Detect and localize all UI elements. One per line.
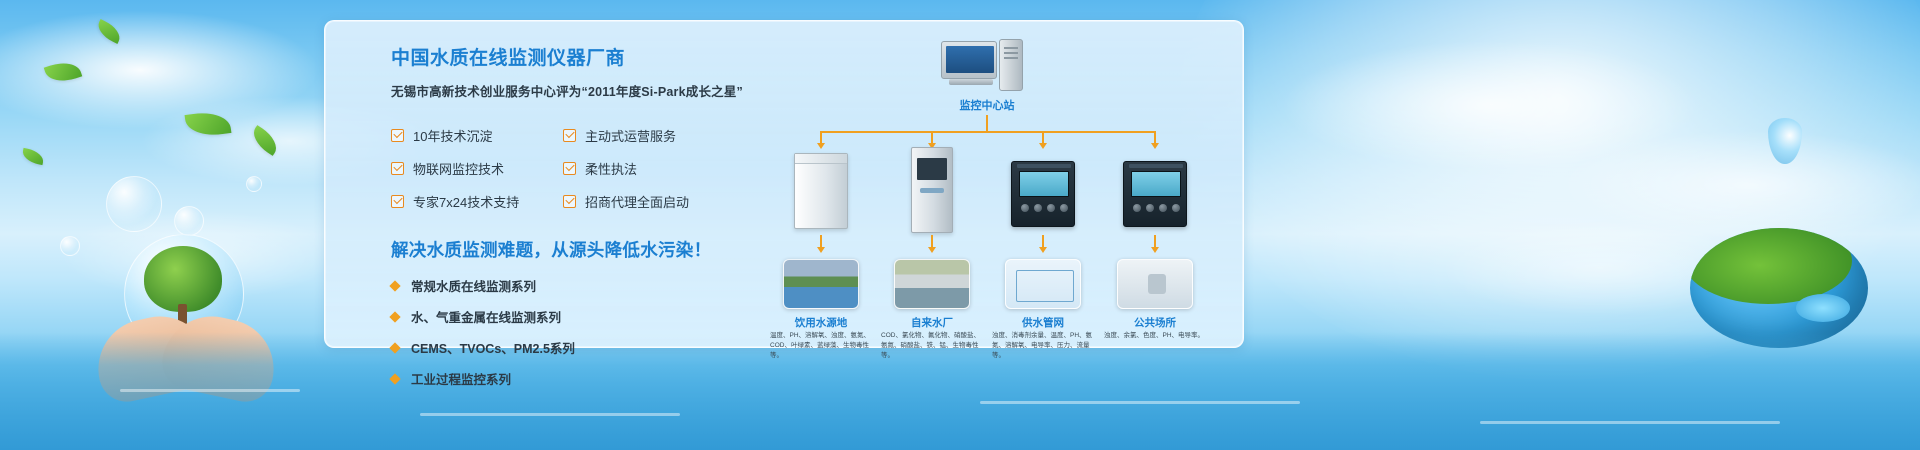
device-body [911,147,953,233]
device-controller-2 [1123,161,1187,227]
page-subtitle: 无锡市高新技术创业服务中心评为“2011年度Si-Park成长之星” [391,81,741,100]
device-body [794,153,848,229]
device-water-cabinet [789,153,853,229]
check-item: 主动式运营服务 [563,126,723,145]
list-item[interactable]: 常规水质在线监测系列 [391,276,741,295]
diamond-bullet-icon [389,342,400,353]
monitoring-center-computer-icon [941,39,1031,93]
bubble-4 [246,176,262,192]
device-display [917,158,947,180]
monitoring-center-label: 监控中心站 [913,97,1061,113]
device-analyzer-cabinet [900,147,964,233]
tree-crown [144,246,222,312]
list-item-label: 水、气重金属在线监测系列 [411,307,561,326]
section-title: 解决水质监测难题，从源头降低水污染！ [391,237,741,262]
page-title: 中国水质在线监测仪器厂商 [391,43,741,70]
monitor-icon [941,41,997,79]
check-label: 物联网监控技术 [413,159,504,178]
arrow-icon [1151,247,1159,253]
device-cap [795,154,847,164]
bubble-1 [106,176,162,232]
check-item: 物联网监控技术 [391,159,563,178]
list-item[interactable]: CEMS、TVOCs、PM2.5系列 [391,338,741,357]
sea-streak-3 [980,401,1300,404]
monitor-screen [946,46,994,73]
check-label: 招商代理全面启动 [585,192,689,211]
check-icon [391,129,404,142]
check-label: 10年技术沉淀 [413,126,492,145]
arrow-icon [1039,247,1047,253]
earth-lake [1796,294,1850,322]
check-item: 专家7x24技术支持 [391,192,563,211]
list-item-label: 工业过程监控系列 [411,369,511,388]
monitor-stand [949,79,993,85]
site-title: 自来水厂 [877,315,987,330]
sea-streak-2 [420,413,680,416]
check-label: 柔性执法 [585,159,637,178]
site-description: 浊度、消毒剂余量、温度、PH、氨氮、溶解氧、电导率、压力、流量等。 [992,331,1094,361]
check-label: 专家7x24技术支持 [413,192,519,211]
diamond-bullet-icon [389,373,400,384]
site-title: 公共场所 [1100,315,1210,330]
device-buttons [1021,204,1068,212]
check-icon [563,129,576,142]
bubble-3 [60,236,80,256]
check-icon [563,162,576,175]
site-title: 供水管网 [988,315,1098,330]
device-lcd [1019,171,1069,197]
diamond-bullet-icon [389,280,400,291]
check-icon [563,195,576,208]
list-item[interactable]: 水、气重金属在线监测系列 [391,307,741,326]
photo-water-pipeline [1005,259,1081,309]
arrow-icon [817,143,825,149]
photo-drinking-water-source [783,259,859,309]
device-top-strip [1129,164,1183,168]
device-top-strip [1017,164,1071,168]
list-item-label: 常规水质在线监测系列 [411,276,536,295]
arrow-icon [1151,143,1159,149]
site-description: 浊度、余氯、色度、PH、电导率。 [1104,331,1206,341]
check-icon [391,195,404,208]
check-item: 柔性执法 [563,159,723,178]
sea-streak-1 [120,389,300,392]
main-panel: 中国水质在线监测仪器厂商 无锡市高新技术创业服务中心评为“2011年度Si-Pa… [324,20,1244,348]
earth-illustration [1690,228,1868,348]
system-diagram: 监控中心站 [765,35,1225,345]
list-item[interactable]: 工业过程监控系列 [391,369,741,388]
earth-grass [1690,228,1852,304]
connector-trunk [986,115,988,131]
device-knob [920,188,944,193]
leaf-1 [44,57,83,87]
pc-tower-icon [999,39,1023,91]
leaf-5 [21,148,45,165]
photo-public-place [1117,259,1193,309]
feature-checklist: 10年技术沉淀 主动式运营服务 物联网监控技术 柔性执法 专家7x24技术支持 … [391,126,741,211]
arrow-icon [817,247,825,253]
photo-water-plant [894,259,970,309]
check-icon [391,162,404,175]
product-list: 常规水质在线监测系列 水、气重金属在线监测系列 CEMS、TVOCs、PM2.5… [391,276,741,388]
device-body [1011,161,1075,227]
device-lcd [1131,171,1181,197]
connector-bus [820,131,1154,133]
site-title: 饮用水源地 [766,315,876,330]
list-item-label: CEMS、TVOCs、PM2.5系列 [411,338,575,357]
site-description: 温度、PH、溶解氧、浊度、氨氮、COD、叶绿素、蓝绿藻、生物毒性等。 [770,331,872,361]
sea-streak-4 [1480,421,1780,424]
device-controller-1 [1011,161,1075,227]
panel-left-column: 中国水质在线监测仪器厂商 无锡市高新技术创业服务中心评为“2011年度Si-Pa… [391,43,741,400]
leaf-4 [248,125,282,156]
check-item: 招商代理全面启动 [563,192,723,211]
diamond-bullet-icon [389,311,400,322]
site-description: COD、氯化物、氟化物、硝酸盐、氨氮、硝酸盐、铁、锰、生物毒性等。 [881,331,983,361]
check-label: 主动式运营服务 [585,126,676,145]
arrow-icon [928,247,936,253]
device-body [1123,161,1187,227]
device-buttons [1133,204,1180,212]
leaf-3 [185,109,232,139]
check-item: 10年技术沉淀 [391,126,563,145]
arrow-icon [1039,143,1047,149]
leaf-2 [94,19,124,44]
